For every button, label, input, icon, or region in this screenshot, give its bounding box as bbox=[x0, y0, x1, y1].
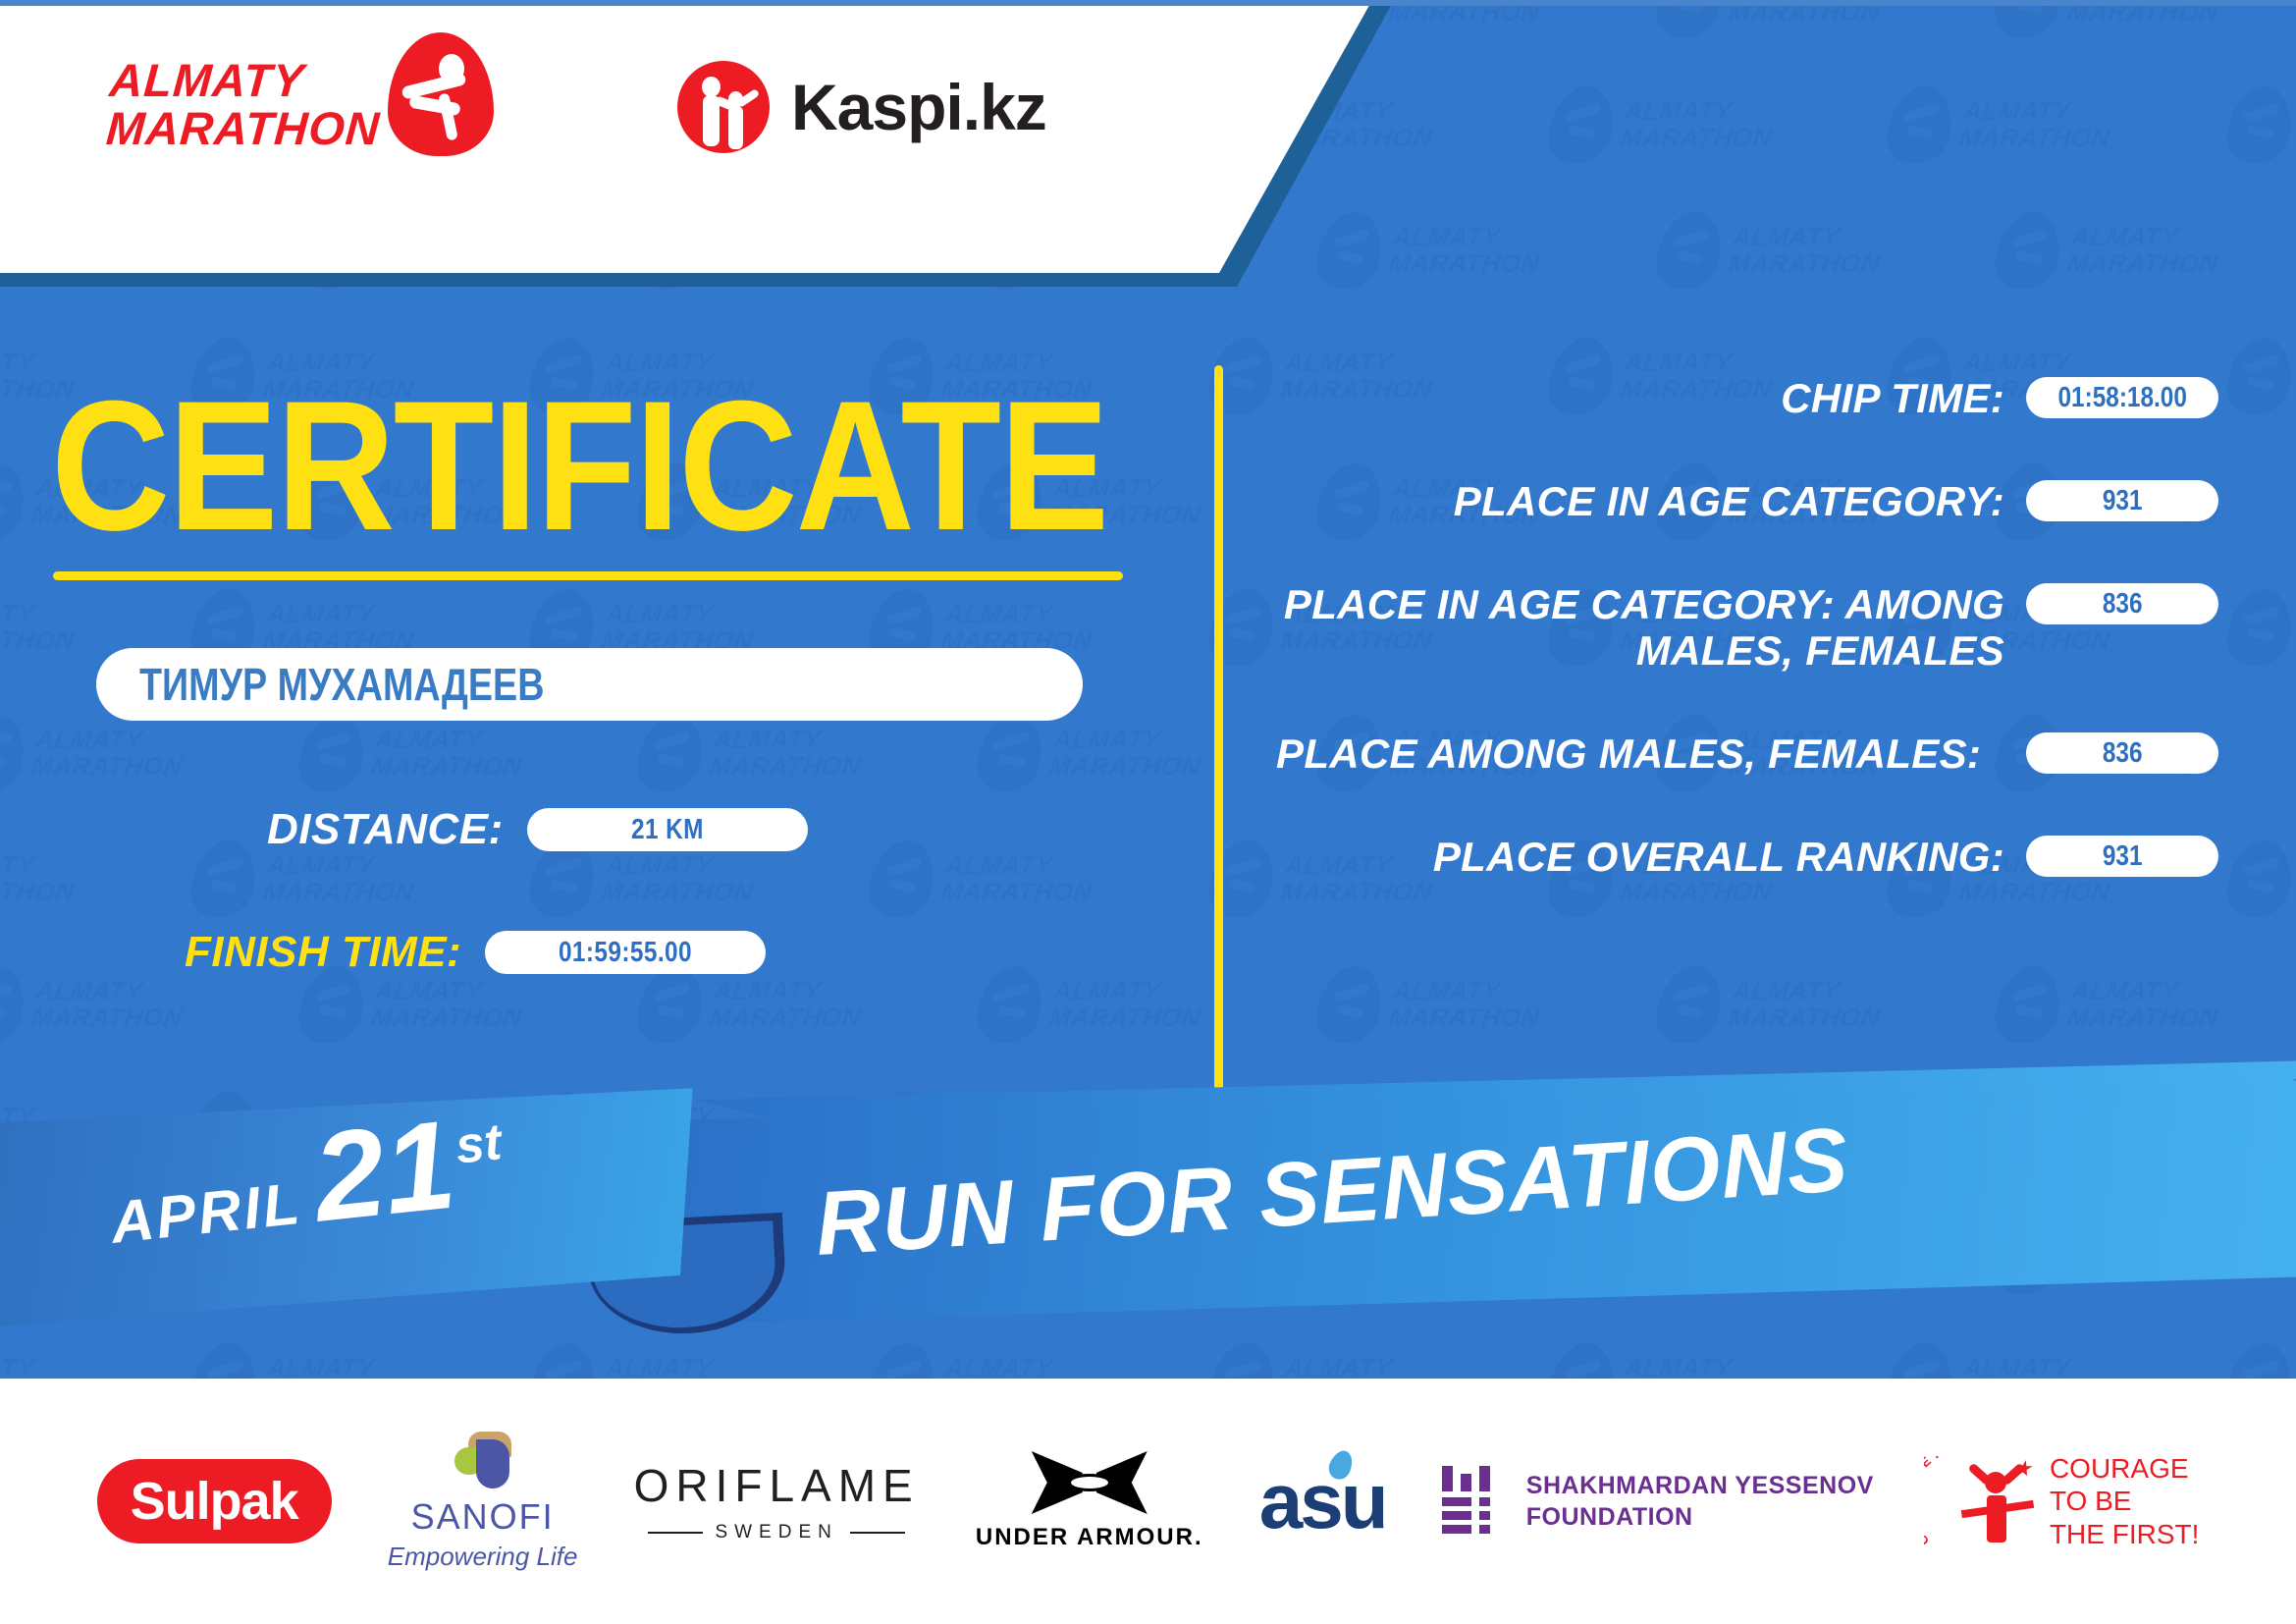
watermark-drop-icon bbox=[634, 715, 708, 791]
watermark-text: ALMATYMARATHON bbox=[1727, 978, 1885, 1030]
watermark-drop-icon bbox=[1312, 966, 1386, 1043]
almaty-logo-line2: MARATHON bbox=[105, 105, 382, 153]
watermark-drop-icon bbox=[1312, 212, 1386, 289]
yessenov-bars-icon bbox=[1442, 1466, 1507, 1537]
sponsor-asu: asu bbox=[1259, 1456, 1386, 1546]
watermark-text: ALMATYMARATHON bbox=[29, 727, 187, 779]
distance-value-pill: 21 KM bbox=[527, 808, 808, 851]
sponsor-corporate-fund: CORPORATE FUND ★ COURAGETO BETHE FIRST! bbox=[1930, 1452, 2199, 1549]
corporate-fund-tagline: COURAGETO BETHE FIRST! bbox=[2050, 1452, 2199, 1549]
place-overall-ranking-value-pill: 931 bbox=[2026, 836, 2218, 877]
watermark-unit: ALMATYMARATHON bbox=[2223, 86, 2296, 163]
results-stats-list: CHIP TIME: 01:58:18.00 PLACE IN AGE CATE… bbox=[1276, 375, 2218, 937]
watermark-text: ALMATYMARATHON bbox=[261, 601, 419, 653]
watermark-text: ALMATYMARATHON bbox=[1387, 224, 1545, 276]
sulpak-logo: Sulpak bbox=[97, 1459, 332, 1543]
column-divider bbox=[1214, 365, 1223, 1104]
place-among-males-females-label: PLACE AMONG MALES, FEMALES: bbox=[1276, 731, 2026, 777]
watermark-drop-icon bbox=[2223, 86, 2296, 163]
watermark-drop-icon bbox=[1884, 86, 1957, 163]
watermark-text: ALMATYMARATHON bbox=[1387, 978, 1545, 1030]
watermark-text: ALMATYMARATHON bbox=[2066, 978, 2224, 1030]
watermark-unit: ALMATYMARATHON bbox=[0, 840, 81, 917]
kaspi-wordmark: Kaspi.kz bbox=[791, 70, 1046, 144]
watermark-unit: ALMATYMARATHON bbox=[1992, 212, 2226, 289]
watermark-drop-icon bbox=[1992, 212, 2065, 289]
oriflame-tagline: SWEDEN bbox=[715, 1522, 837, 1543]
yessenov-label-block: SHAKHMARDAN YESSENOV FOUNDATION bbox=[1526, 1470, 1874, 1533]
oriflame-rule-right bbox=[850, 1532, 905, 1534]
sponsor-oriflame: ORIFLAME SWEDEN bbox=[634, 1459, 920, 1543]
watermark-drop-icon bbox=[866, 840, 939, 917]
event-day: 21 bbox=[309, 1111, 459, 1232]
watermark-drop-icon bbox=[0, 463, 28, 540]
place-among-males-females-row: PLACE AMONG MALES, FEMALES: 836 bbox=[1276, 731, 2218, 777]
distance-value: 21 KM bbox=[631, 814, 704, 846]
watermark-drop-icon bbox=[0, 966, 28, 1043]
watermark-unit: ALMATYMARATHON bbox=[1312, 212, 1547, 289]
watermark-text: ALMATYMARATHON bbox=[29, 978, 187, 1030]
sponsor-yessenov-foundation: SHAKHMARDAN YESSENOV FOUNDATION bbox=[1442, 1466, 1874, 1537]
certificate-canvas: ALMATYMARATHONALMATYMARATHONALMATYMARATH… bbox=[0, 0, 2296, 1624]
place-age-category-label: PLACE IN AGE CATEGORY: bbox=[1276, 478, 2026, 524]
watermark-unit: ALMATYMARATHON bbox=[294, 715, 529, 791]
watermark-text: ALMATYMARATHON bbox=[601, 601, 759, 653]
watermark-unit: ALMATYMARATHON bbox=[1312, 966, 1547, 1043]
watermark-drop-icon bbox=[1652, 966, 1726, 1043]
finish-time-value-pill: 01:59:55.00 bbox=[485, 931, 766, 974]
watermark-unit: ALMATYMARATHON bbox=[2223, 589, 2296, 666]
watermark-text: ALMATYMARATHON bbox=[709, 727, 867, 779]
sponsor-under-armour: UNDER ARMOUR. bbox=[976, 1451, 1203, 1551]
title-underline bbox=[53, 571, 1123, 580]
watermark-unit: ALMATYMARATHON bbox=[974, 715, 1208, 791]
under-armour-icon bbox=[1032, 1451, 1148, 1514]
place-overall-ranking-label: PLACE OVERALL RANKING: bbox=[1276, 834, 2026, 880]
yessenov-label: SHAKHMARDAN YESSENOV bbox=[1526, 1470, 1874, 1501]
watermark-unit: ALMATYMARATHON bbox=[2223, 840, 2296, 917]
watermark-text: ALMATYMARATHON bbox=[1047, 727, 1205, 779]
oriflame-label: ORIFLAME bbox=[634, 1459, 920, 1512]
watermark-text: ALMATYMARATHON bbox=[2066, 224, 2224, 276]
chip-time-value: 01:58:18.00 bbox=[2057, 382, 2186, 414]
watermark-drop-icon bbox=[974, 966, 1047, 1043]
watermark-text: ALMATYMARATHON bbox=[1619, 98, 1777, 150]
corporate-fund-logo: CORPORATE FUND ★ COURAGETO BETHE FIRST! bbox=[1930, 1452, 2199, 1549]
watermark-unit: ALMATYMARATHON bbox=[294, 966, 529, 1043]
place-age-category-among-value: 836 bbox=[2103, 588, 2143, 621]
kaspi-people-circle-icon bbox=[677, 61, 770, 153]
sponsor-sanofi: SANOFI Empowering Life bbox=[388, 1432, 578, 1572]
watermark-drop-icon bbox=[2223, 338, 2296, 414]
place-among-males-females-value: 836 bbox=[2103, 737, 2143, 770]
watermark-unit: ALMATYMARATHON bbox=[1652, 212, 1887, 289]
watermark-drop-icon bbox=[1544, 86, 1618, 163]
watermark-unit: ALMATYMARATHON bbox=[634, 715, 869, 791]
sanofi-mark-icon bbox=[451, 1432, 515, 1490]
watermark-drop-icon bbox=[2223, 589, 2296, 666]
runner-name-field: ТИМУР МУХАМАДЕЕВ bbox=[96, 648, 1083, 721]
watermark-unit: ALMATYMARATHON bbox=[1652, 966, 1887, 1043]
oriflame-rule-left bbox=[648, 1532, 703, 1534]
watermark-drop-icon bbox=[1992, 966, 2065, 1043]
chip-time-label: CHIP TIME: bbox=[1276, 375, 2026, 421]
watermark-drop-icon bbox=[187, 840, 260, 917]
watermark-text: ALMATYMARATHON bbox=[939, 601, 1097, 653]
watermark-text: ALMATYMARATHON bbox=[1958, 98, 2116, 150]
watermark-text: ALMATYMARATHON bbox=[1727, 224, 1885, 276]
place-overall-ranking-row: PLACE OVERALL RANKING: 931 bbox=[1276, 834, 2218, 880]
watermark-text: ALMATYMARATHON bbox=[369, 727, 527, 779]
watermark-unit: ALMATYMARATHON bbox=[0, 966, 189, 1043]
watermark-unit: ALMATYMARATHON bbox=[1544, 86, 1779, 163]
watermark-text: ALMATYMARATHON bbox=[261, 852, 419, 904]
kaspi-logo: Kaspi.kz bbox=[677, 61, 1046, 153]
asu-wordmark: asu bbox=[1259, 1457, 1386, 1544]
asu-label: asu bbox=[1259, 1456, 1386, 1546]
watermark-drop-icon bbox=[294, 715, 368, 791]
watermark-text: ALMATYMARATHON bbox=[939, 852, 1097, 904]
almaty-logo-line1: ALMATY bbox=[108, 57, 385, 105]
event-day-suffix: st bbox=[453, 1112, 504, 1176]
finish-time-value: 01:59:55.00 bbox=[559, 937, 692, 969]
distance-row: DISTANCE: 21 KM bbox=[267, 805, 808, 854]
finish-time-label: FINISH TIME: bbox=[185, 928, 461, 977]
watermark-text: ALMATYMARATHON bbox=[0, 601, 80, 653]
sponsor-sulpak: Sulpak bbox=[97, 1459, 332, 1543]
distance-label: DISTANCE: bbox=[267, 805, 504, 854]
watermark-drop-icon bbox=[1652, 212, 1726, 289]
place-age-category-among-row: PLACE IN AGE CATEGORY: AMONG MALES, FEMA… bbox=[1276, 581, 2218, 674]
watermark-unit: ALMATYMARATHON bbox=[0, 589, 81, 666]
chip-time-value-pill: 01:58:18.00 bbox=[2026, 377, 2218, 418]
sanofi-tagline: Empowering Life bbox=[388, 1542, 578, 1572]
watermark-text: ALMATYMARATHON bbox=[601, 852, 759, 904]
place-overall-ranking-value: 931 bbox=[2103, 840, 2143, 873]
watermark-unit: ALMATYMARATHON bbox=[866, 840, 1100, 917]
almaty-marathon-wordmark: ALMATY MARATHON bbox=[105, 57, 385, 153]
top-accent-line bbox=[0, 0, 2296, 6]
watermark-unit: ALMATYMARATHON bbox=[1992, 966, 2226, 1043]
place-age-category-among-label: PLACE IN AGE CATEGORY: AMONG MALES, FEMA… bbox=[1276, 581, 2026, 674]
chip-time-row: CHIP TIME: 01:58:18.00 bbox=[1276, 375, 2218, 421]
watermark-text: ALMATYMARATHON bbox=[0, 852, 80, 904]
under-armour-label: UNDER ARMOUR. bbox=[976, 1524, 1203, 1551]
watermark-drop-icon bbox=[294, 966, 368, 1043]
watermark-drop-icon bbox=[634, 966, 708, 1043]
watermark-drop-icon bbox=[2223, 840, 2296, 917]
watermark-unit: ALMATYMARATHON bbox=[974, 966, 1208, 1043]
watermark-text: ALMATYMARATHON bbox=[1047, 978, 1205, 1030]
page-title: CERTIFICATE bbox=[51, 373, 1107, 558]
yessenov-tagline: FOUNDATION bbox=[1526, 1501, 1874, 1533]
yessenov-logo: SHAKHMARDAN YESSENOV FOUNDATION bbox=[1442, 1466, 1874, 1537]
runner-name-value: ТИМУР МУХАМАДЕЕВ bbox=[139, 658, 544, 711]
watermark-unit: ALMATYMARATHON bbox=[2223, 338, 2296, 414]
watermark-unit: ALMATYMARATHON bbox=[1884, 86, 2118, 163]
place-among-males-females-value-pill: 836 bbox=[2026, 732, 2218, 774]
sanofi-label: SANOFI bbox=[411, 1496, 555, 1538]
watermark-drop-icon bbox=[974, 715, 1047, 791]
sponsor-bar: Sulpak SANOFI Empowering Life ORIFLAME S… bbox=[0, 1379, 2296, 1624]
place-age-category-among-value-pill: 836 bbox=[2026, 583, 2218, 624]
finish-time-row: FINISH TIME: 01:59:55.00 bbox=[185, 928, 766, 977]
place-age-category-row: PLACE IN AGE CATEGORY: 931 bbox=[1276, 478, 2218, 524]
sulpak-label: Sulpak bbox=[131, 1472, 298, 1531]
corporate-fund-runner-icon: ★ bbox=[1961, 1456, 2034, 1546]
watermark-row: ALMATYMARATHONALMATYMARATHONALMATYMARATH… bbox=[0, 966, 2296, 1043]
place-age-category-value: 931 bbox=[2103, 485, 2143, 517]
watermark-text: ALMATYMARATHON bbox=[369, 978, 527, 1030]
watermark-unit: ALMATYMARATHON bbox=[0, 715, 189, 791]
watermark-text: ALMATYMARATHON bbox=[709, 978, 867, 1030]
watermark-drop-icon bbox=[0, 715, 28, 791]
oriflame-tagline-row: SWEDEN bbox=[648, 1522, 904, 1543]
almaty-marathon-logo: ALMATY MARATHON bbox=[108, 54, 494, 156]
place-age-category-value-pill: 931 bbox=[2026, 480, 2218, 521]
watermark-unit: ALMATYMARATHON bbox=[634, 966, 869, 1043]
